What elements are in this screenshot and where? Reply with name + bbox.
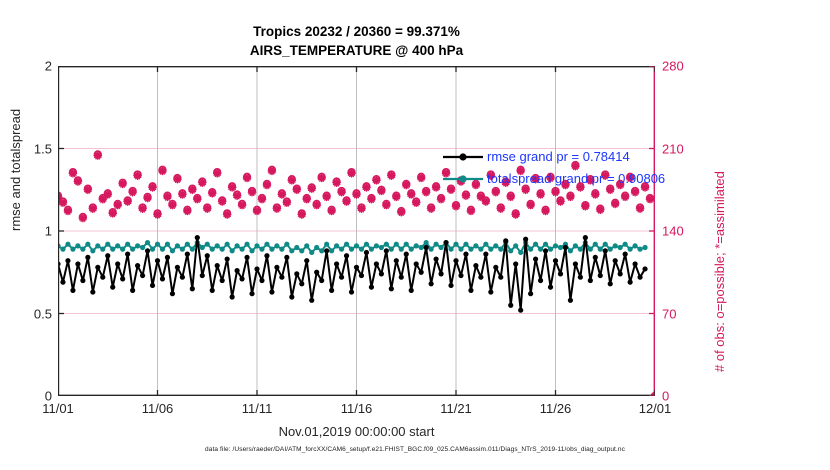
right-axis-tick-280: 280 bbox=[662, 59, 684, 74]
bottom-axis-label: Nov.01,2019 00:00:00 start bbox=[58, 424, 655, 439]
bottom-axis-tick-11-06: 11/06 bbox=[142, 401, 174, 416]
right-axis-label: # of obs: o=possible; *=assimilated bbox=[712, 171, 727, 372]
data-file-note: data file: /Users/raeder/DAI/ATM_forcXX/… bbox=[0, 446, 830, 453]
legend-label-totalspread: totalspread grand pr = 0.90806 bbox=[485, 171, 665, 187]
right-axis-tick-70: 70 bbox=[662, 306, 676, 321]
bottom-axis-tick-11-01: 11/01 bbox=[42, 401, 74, 416]
figure-canvas: Tropics 20232 / 20360 = 99.371% AIRS_TEM… bbox=[0, 0, 830, 470]
plot-canvas bbox=[58, 66, 655, 396]
bottom-axis-tick-11-11: 11/11 bbox=[242, 401, 273, 416]
left-axis-label: rmse and totalspread bbox=[8, 109, 23, 231]
left-axis-tick-1: 1 bbox=[45, 224, 52, 239]
bottom-axis-tick-11-26: 11/26 bbox=[540, 401, 572, 416]
bottom-axis-tick-11-16: 11/16 bbox=[341, 401, 373, 416]
plot-area: 00.511.52 070140210280 11/0111/0611/1111… bbox=[58, 66, 655, 396]
right-axis-tick-210: 210 bbox=[662, 141, 684, 156]
bottom-axis-tick-12-01: 12/01 bbox=[639, 401, 672, 416]
left-axis-tick-0.5: 0.5 bbox=[34, 306, 52, 321]
right-axis-tick-140: 140 bbox=[662, 224, 684, 239]
left-axis-tick-1.5: 1.5 bbox=[34, 141, 52, 156]
chart-title-line-1: Tropics 20232 / 20360 = 99.371% bbox=[58, 22, 655, 41]
legend-sample-rmse-icon bbox=[441, 149, 485, 165]
left-axis-tick-2: 2 bbox=[45, 59, 52, 74]
legend-item-totalspread[interactable]: totalspread grand pr = 0.90806 bbox=[441, 168, 665, 190]
legend-sample-totalspread-icon bbox=[441, 171, 485, 187]
chart-title: Tropics 20232 / 20360 = 99.371% AIRS_TEM… bbox=[58, 22, 655, 60]
legend-item-rmse[interactable]: rmse grand pr = 0.78414 bbox=[441, 146, 665, 168]
chart-title-line-2: AIRS_TEMPERATURE @ 400 hPa bbox=[58, 41, 655, 60]
legend-label-rmse: rmse grand pr = 0.78414 bbox=[485, 149, 630, 165]
bottom-axis-tick-11-21: 11/21 bbox=[440, 401, 472, 416]
chart-legend: rmse grand pr = 0.78414 totalspread gran… bbox=[441, 146, 665, 190]
